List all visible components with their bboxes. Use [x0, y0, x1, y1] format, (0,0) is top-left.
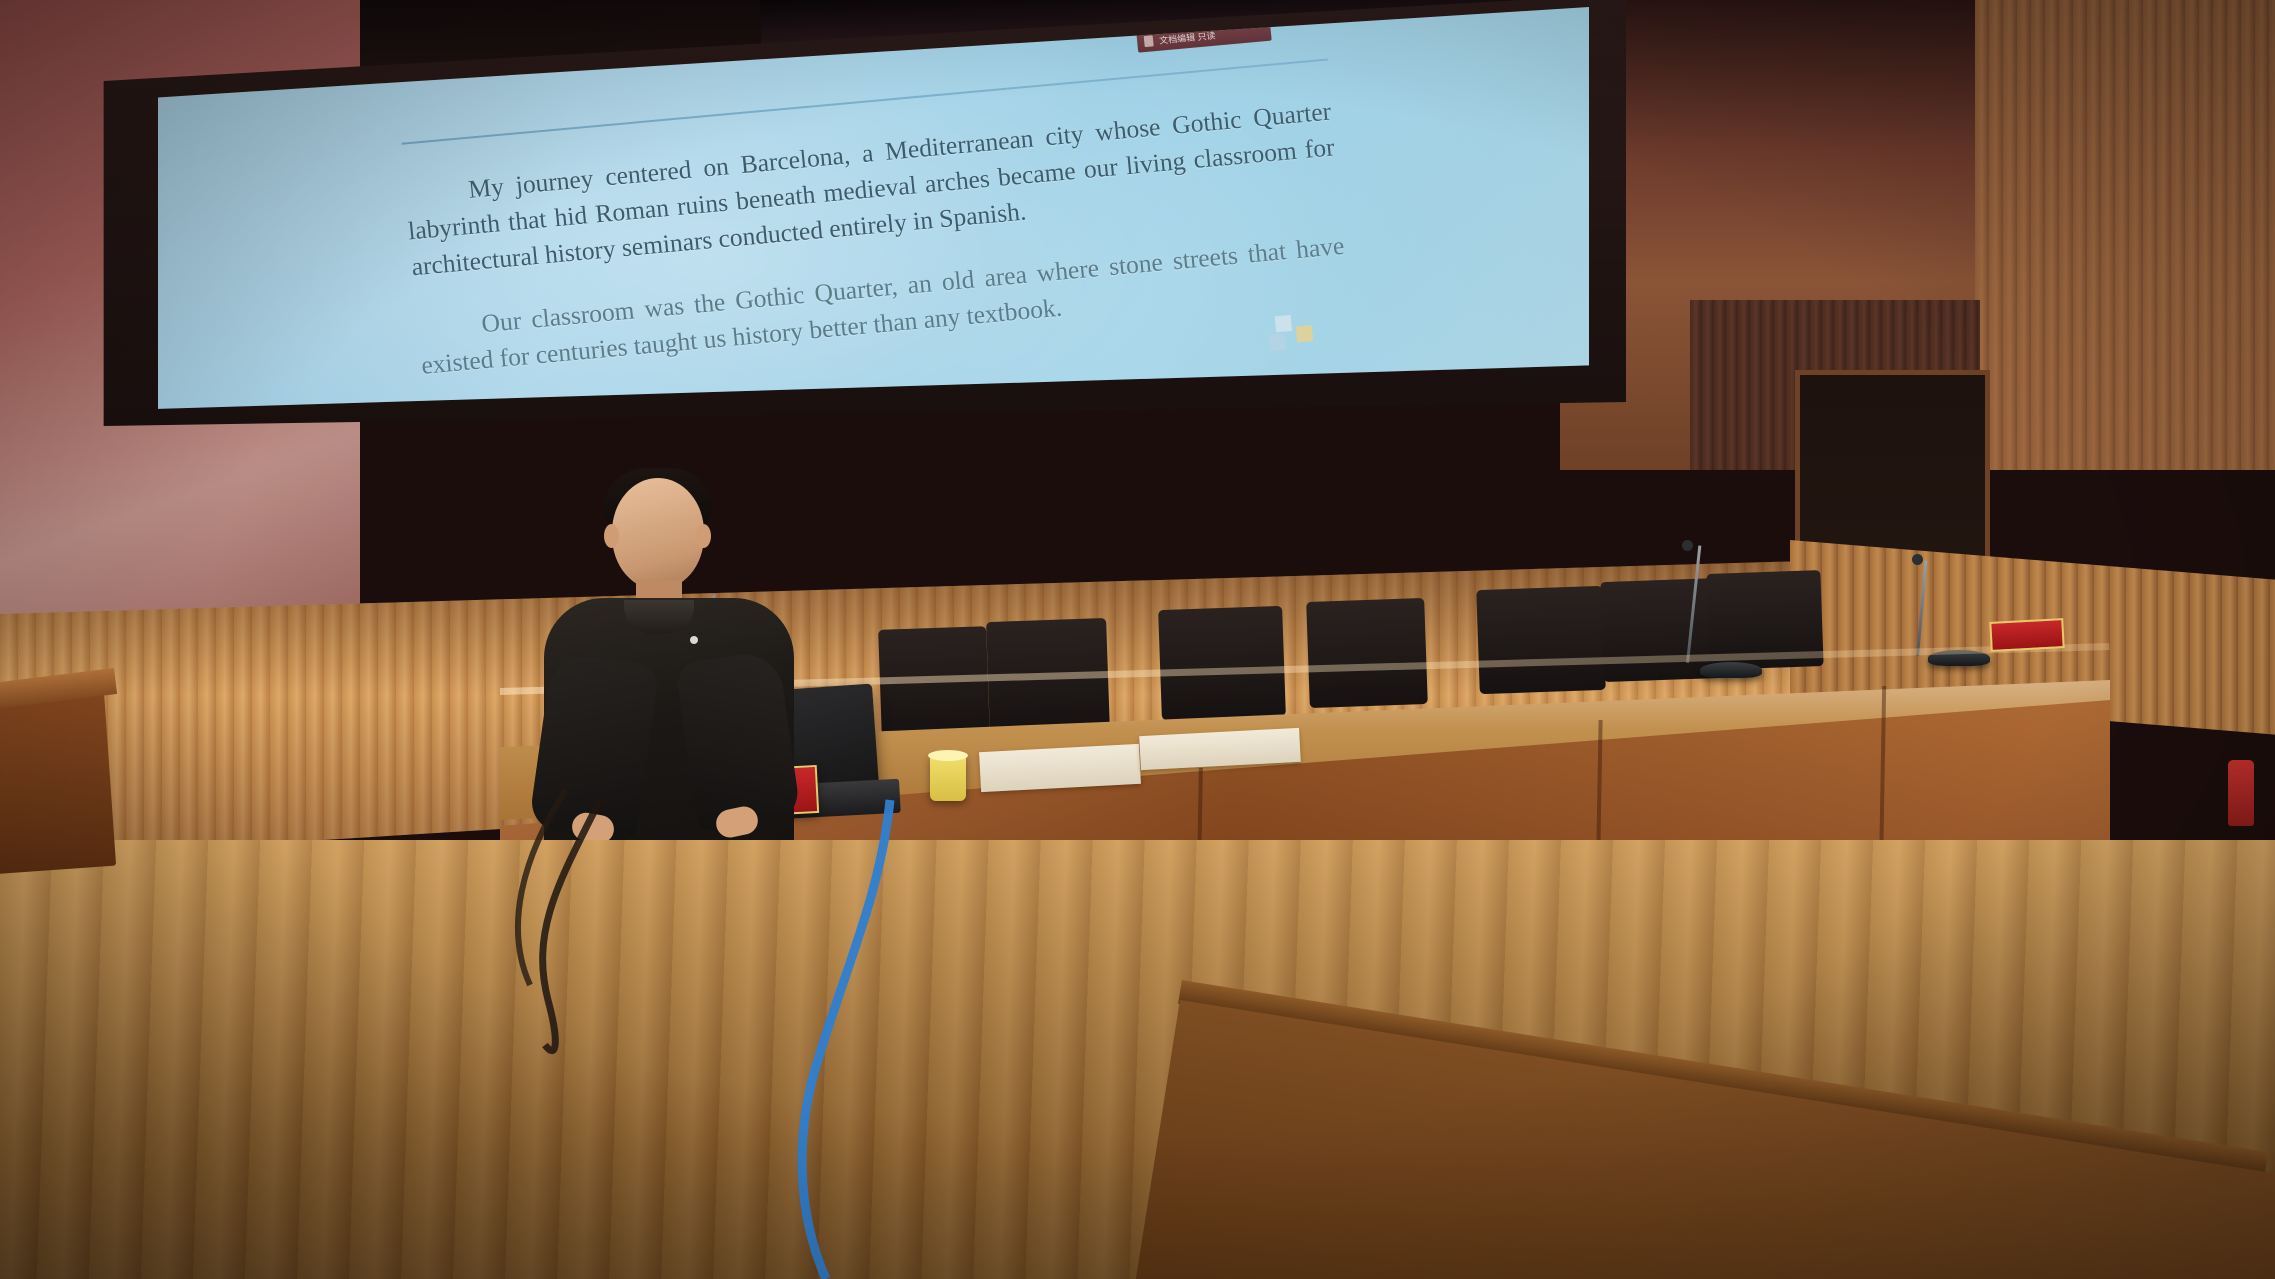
fire-extinguisher	[2228, 760, 2254, 826]
blue-network-cable	[0, 0, 2275, 1279]
side-lectern	[0, 686, 116, 874]
lecture-hall-photo: Contrast 文档编辑 只读 My journey centered on …	[0, 0, 2275, 1279]
